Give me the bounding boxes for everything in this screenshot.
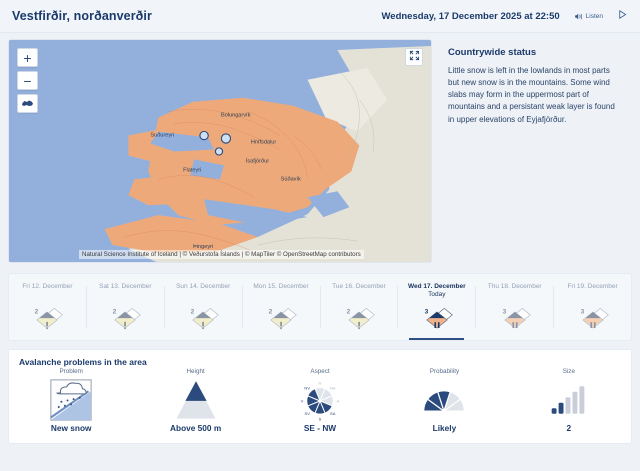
danger-level-2-icon: 2 — [263, 304, 299, 341]
svg-text:3: 3 — [502, 308, 506, 315]
forecast-datetime: Wednesday, 17 December 2025 at 22:50 — [382, 11, 560, 22]
day-tab-fri-19[interactable]: Fri 19. December3 — [554, 274, 631, 340]
size-value: 2 — [567, 423, 572, 433]
map-label: Súðavík — [281, 175, 301, 182]
danger-level-2-icon: 2 — [185, 304, 221, 341]
status-text: Little snow is left in the lowlands in m… — [448, 65, 622, 126]
day-label: Mon 15. December — [253, 283, 308, 290]
problems-heading: Avalanche problems in the area — [19, 357, 631, 367]
svg-text:NV: NV — [304, 386, 310, 391]
new-snow-icon — [50, 378, 92, 422]
day-label: Tue 16. December — [332, 283, 386, 290]
active-day-underline — [409, 338, 464, 340]
size-bars-icon — [548, 378, 590, 422]
zoom-out-button[interactable]: − — [17, 71, 38, 90]
svg-text:2: 2 — [113, 308, 117, 315]
day-label: Thu 18. December — [488, 283, 542, 290]
danger-level-2-icon: 2 — [29, 304, 65, 341]
map-label: Flateyri — [183, 167, 201, 173]
size-column: Size 2 — [507, 368, 631, 433]
size-label: Size — [563, 368, 575, 375]
day-tab-tue-16[interactable]: Tue 16. December2 — [321, 274, 398, 340]
danger-level-3-icon: 3 — [497, 304, 533, 341]
avalanche-forecast-page: Vestfirðir, norðanverðir Wednesday, 17 D… — [0, 0, 640, 471]
probability-gauge-icon — [420, 378, 468, 422]
zoom-in-button[interactable]: + — [17, 48, 38, 67]
day-tab-fri-12[interactable]: Fri 12. December2 — [9, 274, 86, 340]
probability-value: Likely — [433, 423, 457, 433]
mountain-height-icon — [173, 378, 219, 422]
day-tab-wed-17[interactable]: Wed 17. DecemberToday3 — [398, 274, 475, 340]
svg-text:NA: NA — [330, 386, 336, 391]
forecast-map[interactable]: Bolungarvík Hnífsdalur Ísafjörður Súðaví… — [8, 39, 432, 263]
day-tab-thu-18[interactable]: Thu 18. December3 — [476, 274, 553, 340]
day-tab-sat-13[interactable]: Sat 13. December2 — [87, 274, 164, 340]
svg-text:2: 2 — [347, 308, 351, 315]
aspect-label: Aspect — [310, 368, 329, 375]
forecast-days-strip[interactable]: Fri 12. December2Sat 13. December2Sun 14… — [8, 273, 632, 341]
expand-arrows-icon — [409, 48, 420, 66]
day-label: Fri 12. December — [22, 283, 72, 290]
probability-label: Probability — [430, 368, 459, 375]
speaker-icon — [574, 12, 583, 21]
height-label: Height — [187, 368, 205, 375]
height-value: Above 500 m — [170, 423, 221, 433]
map-canvas[interactable]: Bolungarvík Hnífsdalur Ísafjörður Súðaví… — [9, 40, 431, 263]
probability-column: Probability Likely — [382, 368, 506, 433]
play-triangle-icon — [617, 7, 628, 25]
map-zoom-controls[interactable]: + − — [17, 48, 38, 113]
danger-level-3-icon: 3 — [575, 304, 611, 341]
play-audio-button[interactable] — [617, 7, 628, 25]
svg-text:2: 2 — [269, 308, 273, 315]
problem-type-column: Problem New sn — [9, 368, 133, 433]
avalanche-problems-panel: Avalanche problems in the area Problem — [8, 349, 632, 444]
page-title: Vestfirðir, norðanverðir — [12, 9, 152, 23]
aspect-value: SE - NW — [304, 423, 336, 433]
aspect-column: Aspect NNAASASSVVNV SE - NW — [258, 368, 382, 433]
svg-text:SV: SV — [305, 411, 311, 416]
height-column: Height Above 500 m — [133, 368, 257, 433]
day-label: Sat 13. December — [99, 283, 151, 290]
svg-text:3: 3 — [424, 308, 428, 315]
problem-type-label: Problem — [59, 368, 82, 375]
day-label: Wed 17. December — [408, 283, 466, 290]
map-label: Bolungarvík — [221, 113, 251, 119]
danger-level-3-icon: 3 — [419, 304, 455, 341]
day-tab-sun-14[interactable]: Sun 14. December2 — [165, 274, 242, 340]
day-tab-mon-15[interactable]: Mon 15. December2 — [243, 274, 320, 340]
status-heading: Countrywide status — [448, 47, 622, 58]
problems-row: Problem New sn — [9, 368, 631, 433]
svg-text:3: 3 — [580, 308, 584, 315]
day-label: Sun 14. December — [176, 283, 230, 290]
danger-level-2-icon: 2 — [341, 304, 377, 341]
header-right-group: Wednesday, 17 December 2025 at 22:50 Lis… — [382, 7, 629, 25]
compass-rose-icon: NNAASASSVVNV — [297, 378, 343, 422]
today-label: Today — [428, 291, 445, 298]
main-content-row: Bolungarvík Hnífsdalur Ísafjörður Súðaví… — [0, 33, 640, 265]
svg-text:SA: SA — [330, 411, 336, 416]
svg-text:2: 2 — [35, 308, 39, 315]
svg-text:S: S — [319, 417, 322, 422]
listen-button[interactable]: Listen — [574, 12, 603, 21]
svg-text:N: N — [319, 380, 322, 385]
iceland-shape-icon[interactable] — [17, 94, 38, 113]
listen-label: Listen — [586, 13, 603, 20]
page-header: Vestfirðir, norðanverðir Wednesday, 17 D… — [0, 0, 640, 33]
map-label: Suðureyri — [150, 132, 174, 139]
map-attribution: Natural Science Institute of Iceland | ©… — [79, 250, 364, 259]
expand-map-button[interactable] — [405, 48, 423, 66]
danger-level-2-icon: 2 — [107, 304, 143, 341]
svg-text:V: V — [301, 398, 304, 403]
map-label: Hnífsdalur — [251, 140, 276, 146]
problem-type-value: New snow — [51, 423, 92, 433]
map-label: Ísafjörður — [246, 157, 269, 164]
countrywide-status-panel: Countrywide status Little snow is left i… — [440, 39, 632, 265]
svg-text:A: A — [337, 398, 340, 403]
day-label: Fri 19. December — [567, 283, 617, 290]
svg-text:2: 2 — [191, 308, 195, 315]
